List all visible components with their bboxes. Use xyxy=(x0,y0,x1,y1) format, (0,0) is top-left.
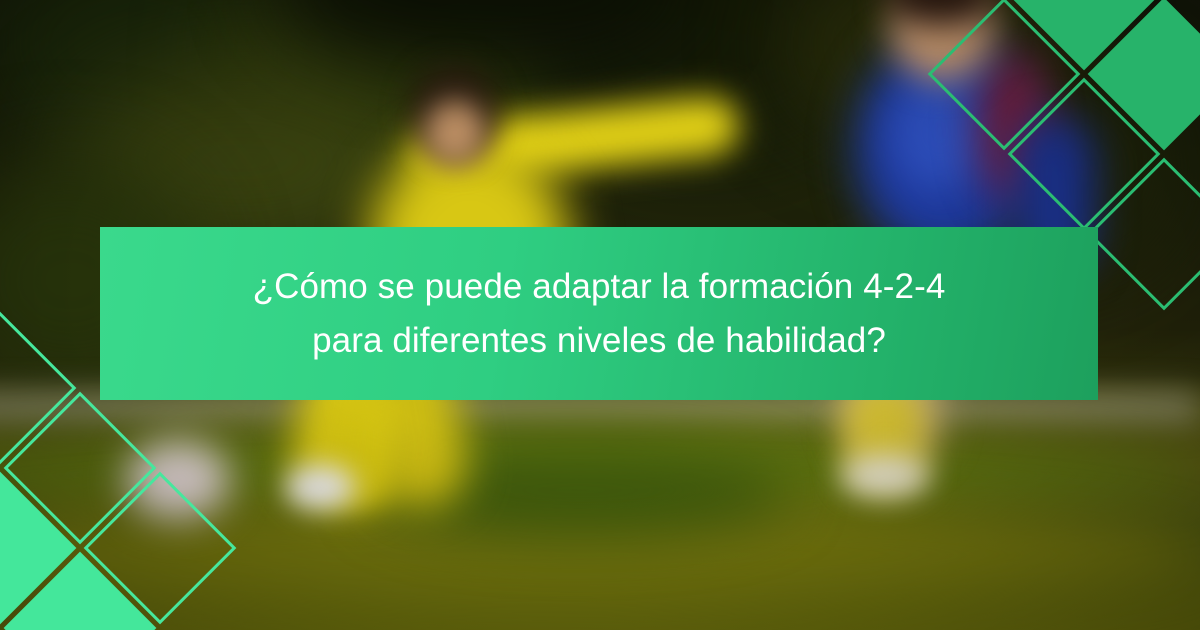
diamond-cluster-bottom-left xyxy=(0,370,300,630)
share-card-canvas: ¿Cómo se puede adaptar la formación 4-2-… xyxy=(0,0,1200,630)
headline-banner: ¿Cómo se puede adaptar la formación 4-2-… xyxy=(100,227,1098,400)
diamond-cluster-top-right xyxy=(900,0,1200,260)
headline-text: ¿Cómo se puede adaptar la formación 4-2-… xyxy=(253,260,946,366)
